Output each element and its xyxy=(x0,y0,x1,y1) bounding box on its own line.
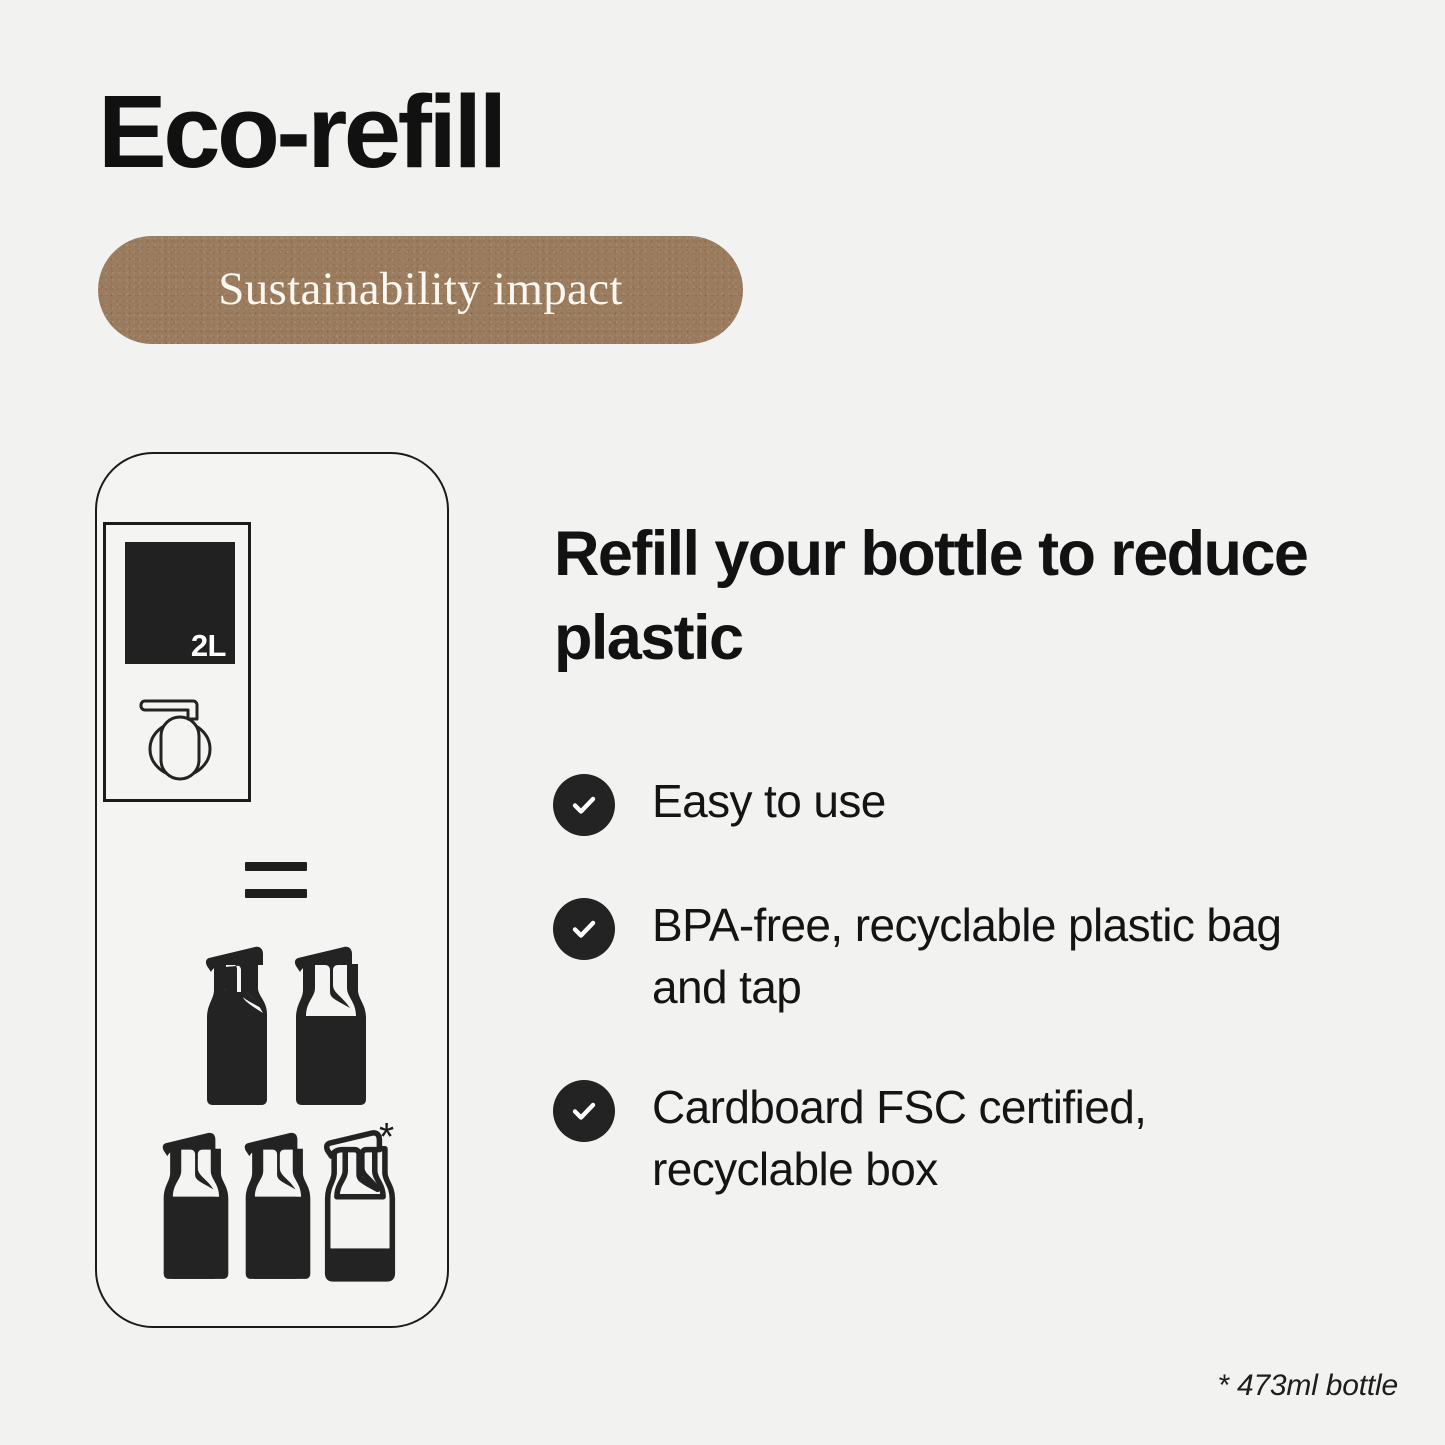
feature-label: Easy to use xyxy=(652,770,886,832)
headline: Refill your bottle to reduce plastic xyxy=(554,512,1334,681)
check-icon xyxy=(553,898,615,960)
feature-label: Cardboard FSC certified, recyclable box xyxy=(652,1076,1352,1200)
feature-label: BPA-free, recyclable plastic bag and tap xyxy=(652,894,1352,1018)
footnote: * 473ml bottle xyxy=(1217,1369,1398,1403)
spray-bottle-icon xyxy=(292,944,370,1107)
feature-item: Easy to use xyxy=(553,770,1383,836)
equals-symbol xyxy=(245,862,307,898)
equals-bar-bottom xyxy=(245,889,307,898)
badge-label: Sustainability impact xyxy=(218,262,622,319)
check-icon xyxy=(553,1080,615,1142)
package-front-panel: 2L xyxy=(125,542,235,664)
infographic-root: Eco-refill Sustainability impact 2L xyxy=(0,0,1445,1445)
check-icon xyxy=(553,774,615,836)
equals-bar-top xyxy=(245,862,307,871)
feature-list: Easy to use BPA-free, recyclable plastic… xyxy=(553,770,1383,1258)
feature-item: Cardboard FSC certified, recyclable box xyxy=(553,1076,1383,1200)
refill-package-illustration: 2L xyxy=(103,522,251,802)
footnote-asterisk-marker: * xyxy=(379,1118,394,1157)
bottle-row-lower xyxy=(160,1128,396,1283)
package-volume-label: 2L xyxy=(191,630,226,661)
tap-spout-icon xyxy=(137,691,223,787)
spray-bottle-icon xyxy=(160,1128,232,1283)
page-title: Eco-refill xyxy=(98,78,504,186)
spray-bottle-icon xyxy=(203,944,281,1107)
spray-bottle-icon xyxy=(242,1128,314,1283)
feature-item: BPA-free, recyclable plastic bag and tap xyxy=(553,894,1383,1018)
bottle-row-upper xyxy=(203,944,370,1107)
sustainability-impact-badge: Sustainability impact xyxy=(98,236,743,344)
